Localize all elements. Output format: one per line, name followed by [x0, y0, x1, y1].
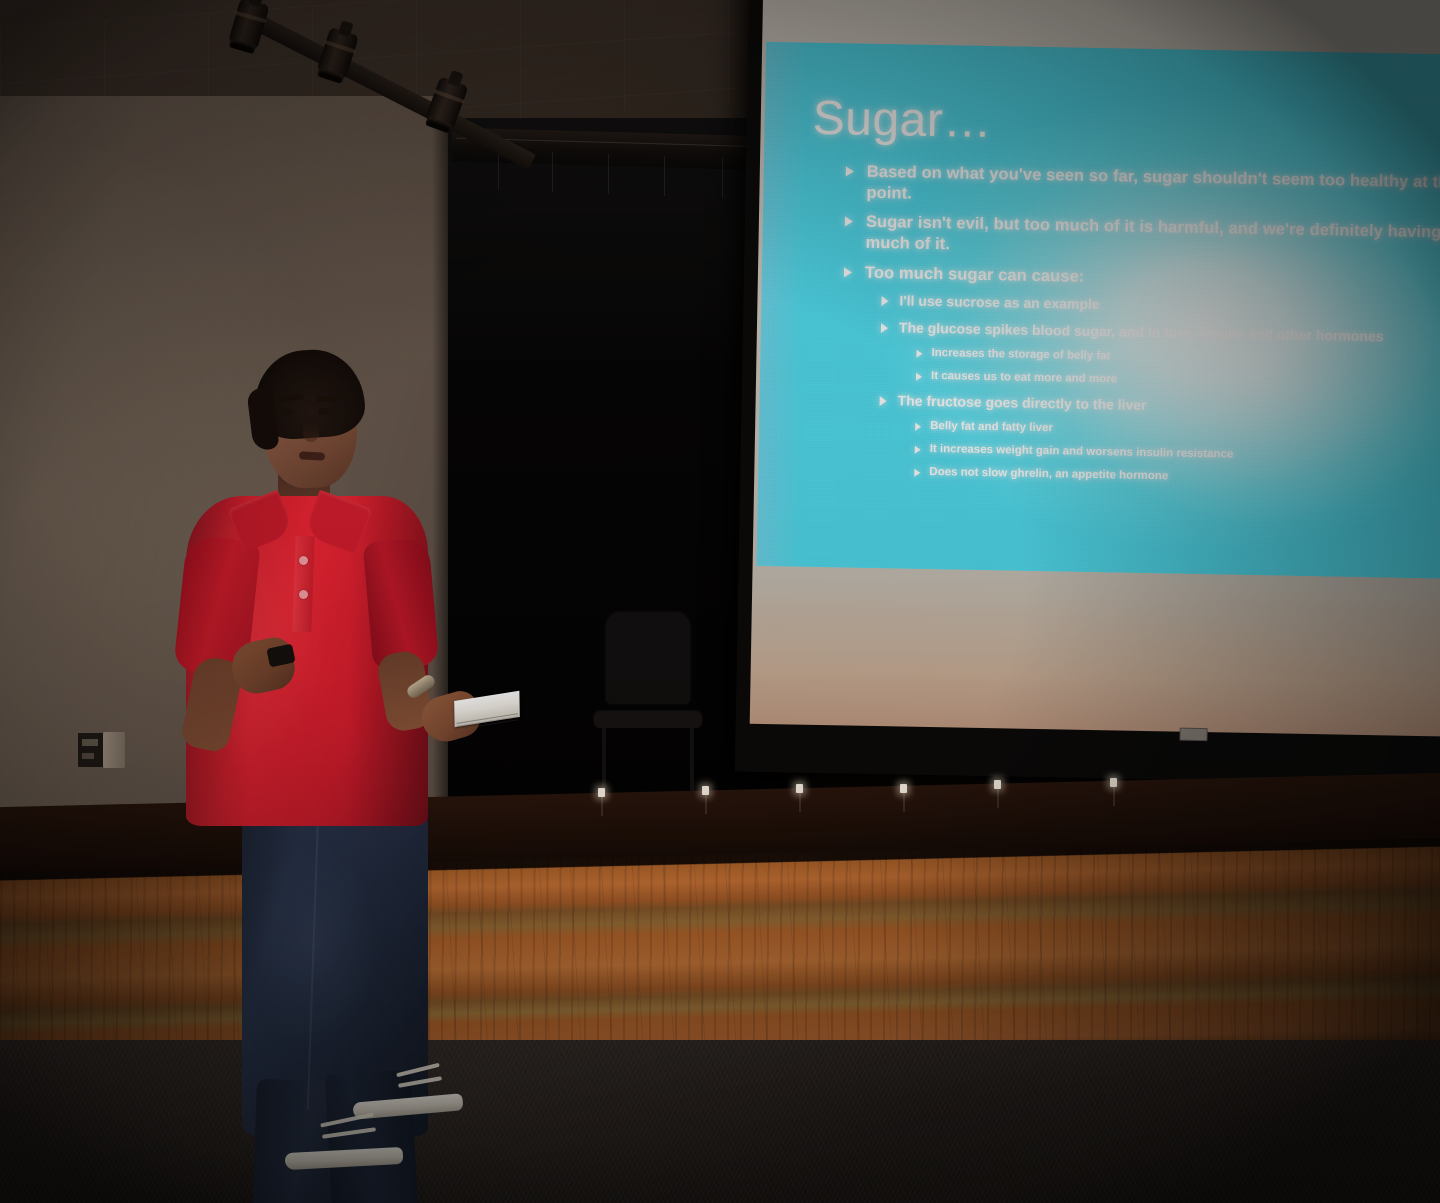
bullet-item: It causes us to eat more and more: [916, 370, 1440, 392]
projection-screen-frame: Sugar… Based on what you've seen so far,…: [735, 0, 1440, 784]
bullet-triangle-icon: [914, 469, 920, 477]
presentation-photo: Sugar… Based on what you've seen so far,…: [0, 0, 1440, 1203]
rail-tick: [664, 156, 665, 196]
bullet-item: The glucose spikes blood sugar, and in t…: [881, 319, 1440, 346]
presenter-mouth: [299, 451, 325, 460]
rail-tick: [498, 150, 499, 190]
bullet-triangle-icon: [846, 166, 854, 176]
stage-edge-light: [702, 786, 709, 795]
bullet-triangle-icon: [916, 373, 922, 381]
chair-backrest: [606, 612, 690, 704]
stage-edge-light: [994, 780, 1001, 789]
bullet-triangle-icon: [881, 323, 888, 333]
presenter-eye: [318, 408, 335, 415]
presenter-nose: [303, 422, 319, 442]
shirt-button: [299, 556, 308, 565]
bullet-triangle-icon: [880, 396, 887, 406]
wall-plate-slot: [82, 739, 98, 746]
chair: [588, 612, 708, 808]
chair-seat: [594, 712, 702, 728]
stage-edge-light: [1110, 778, 1117, 787]
presenter-eye: [276, 408, 293, 415]
stage-edge-light: [900, 784, 907, 793]
edge-light-stem: [705, 792, 707, 814]
screen-pull-tab: [1179, 728, 1207, 742]
edge-light-stem: [903, 790, 905, 812]
wood-shadow-right: [897, 838, 1440, 1066]
wall-plate-dark-face: [78, 733, 105, 767]
bullet-item: Based on what you've seen so far, sugar …: [845, 161, 1440, 214]
rail-tick: [608, 154, 609, 194]
bullet-triangle-icon: [915, 446, 921, 454]
bullet-item: It increases weight gain and worsens ins…: [915, 443, 1440, 465]
shirt-button: [299, 590, 308, 599]
wall-plate-cover: [103, 732, 125, 768]
stage-edge-light: [796, 784, 803, 793]
bullet-item: Does not slow ghrelin, an appetite hormo…: [914, 466, 1440, 488]
bullet-triangle-icon: [844, 267, 852, 277]
slide-title: Sugar…: [812, 91, 992, 149]
wall-outlet-plate[interactable]: [78, 733, 126, 767]
bullet-item: Increases the storage of belly fat: [916, 347, 1440, 369]
bullet-triangle-icon: [881, 296, 888, 306]
bullet-item: Belly fat and fatty liver: [915, 420, 1440, 442]
projected-slide: Sugar… Based on what you've seen so far,…: [757, 42, 1440, 579]
rail-tick: [722, 158, 723, 198]
edge-light-stem: [1113, 784, 1115, 806]
wall-plate-slot: [82, 753, 94, 759]
bullet-item: I'll use sucrose as an example: [881, 292, 1440, 319]
slide-bullet-list: Based on what you've seen so far, sugar …: [840, 161, 1440, 499]
shirt-right-sleeve: [363, 537, 440, 670]
edge-light-stem: [799, 790, 801, 812]
slide-edge-shade: [757, 42, 809, 567]
stage-edge-light: [598, 788, 605, 797]
presenter: [170, 340, 530, 1200]
shirt-placket: [292, 536, 314, 633]
edge-light-stem: [997, 786, 999, 808]
bullet-triangle-icon: [916, 350, 922, 358]
bullet-triangle-icon: [915, 423, 921, 431]
bullet-item: Sugar isn't evil, but too much of it is …: [844, 212, 1440, 265]
bullet-triangle-icon: [845, 217, 853, 227]
bullet-item: Too much sugar can cause:: [844, 262, 1440, 294]
bullet-item: The fructose goes directly to the liver: [880, 392, 1440, 419]
rail-tick: [552, 152, 553, 192]
edge-light-stem: [601, 794, 603, 816]
